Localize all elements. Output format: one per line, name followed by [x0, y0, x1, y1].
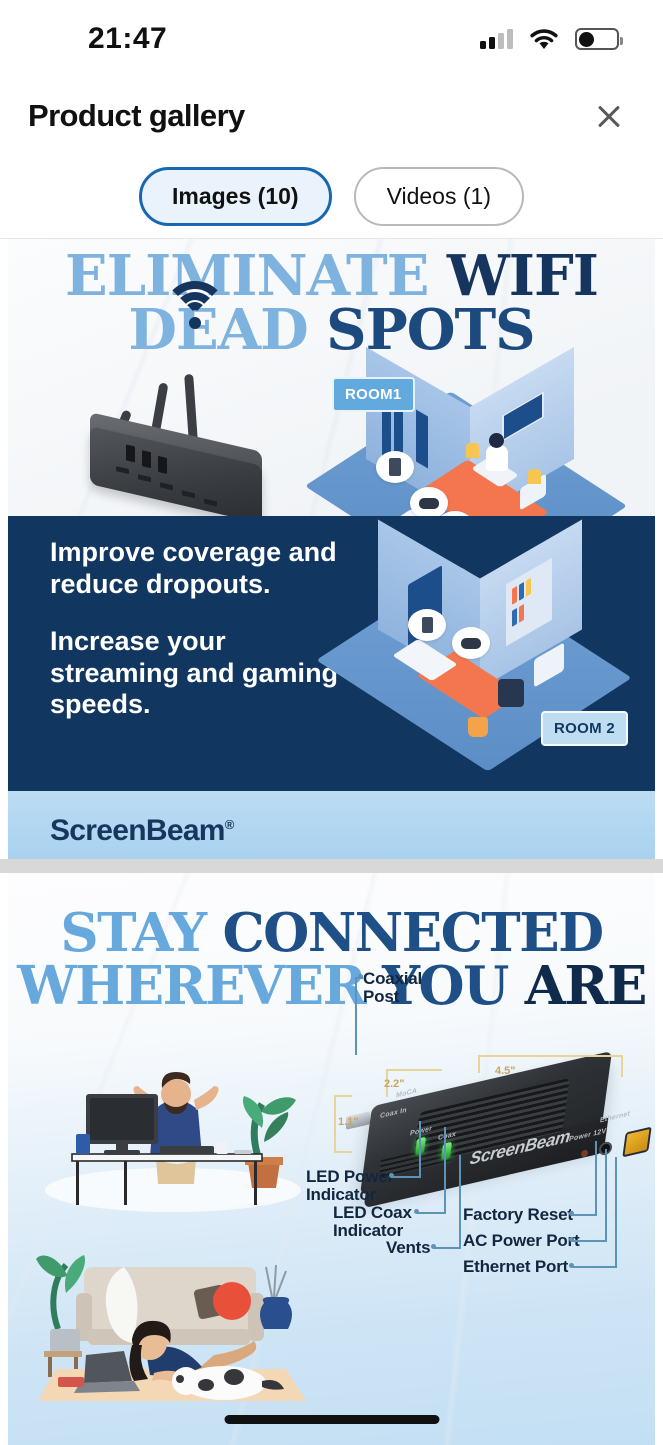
- wifi-icon: [529, 28, 559, 50]
- dimension-4-5: 4.5": [495, 1065, 516, 1077]
- dimension-1-1: 1.1": [338, 1116, 359, 1128]
- callout-factory-reset: Factory Reset: [463, 1206, 573, 1224]
- room-tag-1: ROOM1: [332, 377, 415, 412]
- gallery-image-card-1[interactable]: ELIMINATE WIFI DEAD SPOTS: [0, 239, 663, 859]
- gallery-image-card-2[interactable]: STAY CONNECTED WHEREVER YOU ARE: [0, 873, 663, 1445]
- callout-ac-power-port: AC Power Port: [463, 1232, 579, 1250]
- callout-led-coax-indicator: LED Coax Indicator: [333, 1204, 423, 1241]
- status-bar: 21:47: [0, 0, 663, 78]
- wifi-router-illustration: [78, 374, 278, 519]
- wifi-signal-icon: [163, 281, 233, 341]
- card1-copy: Improve coverage and reduce dropouts. In…: [50, 537, 350, 721]
- card2-title-word-1: STAY: [60, 907, 205, 960]
- gallery-tabbar: Images (10) Videos (1): [0, 154, 663, 239]
- tab-images[interactable]: Images (10): [139, 167, 332, 226]
- card1-title-word-4: SPOTS: [326, 297, 534, 363]
- page-title: Product gallery: [28, 98, 245, 134]
- close-icon[interactable]: [587, 94, 631, 138]
- home-indicator: [224, 1415, 439, 1424]
- office-isometric-illustration: ROOM 2: [356, 527, 626, 767]
- tab-videos[interactable]: Videos (1): [354, 167, 524, 226]
- brand-name: ScreenBeam: [50, 814, 225, 847]
- gallery-list[interactable]: ELIMINATE WIFI DEAD SPOTS: [0, 239, 663, 1445]
- gallery-header: Product gallery: [0, 78, 663, 154]
- card2-title-word-3: WHEREVER: [17, 960, 365, 1013]
- callout-led-power-indicator: LED Power Indicator: [306, 1168, 396, 1205]
- callout-coaxial-post: Coaxial Post: [363, 970, 443, 1007]
- status-time: 21:47: [88, 22, 167, 56]
- card1-title: ELIMINATE WIFI DEAD SPOTS: [8, 249, 655, 358]
- brand-mark: ®: [225, 817, 234, 832]
- man-at-desk-illustration: [38, 1058, 308, 1218]
- callout-vents: Vents: [386, 1239, 430, 1257]
- status-icons: [480, 28, 619, 50]
- callout-ethernet-port: Ethernet Port: [463, 1258, 568, 1276]
- screenbeam-logo: ScreenBeam®: [50, 814, 234, 848]
- card1-copy-line-1: Improve coverage and reduce dropouts.: [50, 537, 350, 600]
- card1-copy-line-2: Increase your streaming and gaming speed…: [50, 626, 350, 721]
- cellular-signal-icon: [480, 29, 513, 49]
- room-tag-2: ROOM 2: [541, 711, 628, 746]
- battery-icon: [575, 28, 619, 50]
- card2-title-word-5: ARE: [525, 960, 646, 1013]
- dimension-2-2: 2.2": [384, 1078, 405, 1090]
- ethernet-port: [622, 1127, 651, 1158]
- card2-title-word-2: CONNECTED: [222, 907, 602, 960]
- woman-with-laptop-illustration: [28, 1233, 318, 1408]
- device-label-ethernet: Ethernet: [600, 1110, 631, 1124]
- card2-title: STAY CONNECTED WHEREVER YOU ARE: [8, 907, 655, 1013]
